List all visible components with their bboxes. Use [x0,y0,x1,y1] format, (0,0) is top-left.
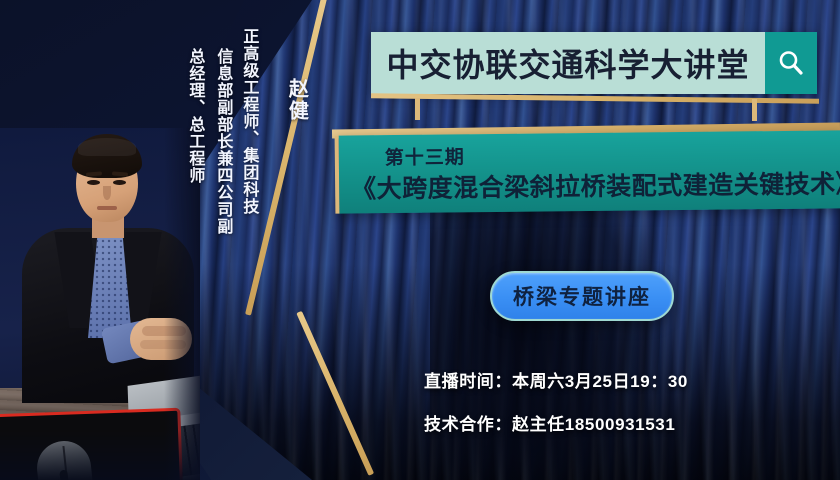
brand-title-text: 中交协联交通科学大讲堂 [386,40,749,86]
topic-badge-label: 桥梁专题讲座 [513,281,651,311]
search-icon [776,48,806,78]
gold-tick-right [752,99,757,121]
live-time-text: 直播时间：本周六3月25日19：30 [424,367,688,392]
brand-title-bar: 中交协联交通科学大讲堂 [371,32,817,94]
background-shadow [430,200,660,480]
speaker-photo [0,128,200,480]
episode-label: 第十三期 [385,142,465,170]
topic-badge[interactable]: 桥梁专题讲座 [490,271,674,321]
speaker-name: 赵健 [286,78,306,122]
brand-title-box: 中交协联交通科学大讲堂 [371,32,765,94]
contact-text: 技术合作：赵主任18500931531 [424,410,675,435]
webinar-poster: 总经理、总工程师 信息部副部长兼四公司副 正高级工程师、集团科技 赵健 中交协联… [0,0,840,480]
speaker-credential-line-3: 总经理、总工程师 [186,48,202,184]
lecture-title: 《大跨度混合梁斜拉桥装配式建造关键技术》 [351,164,840,205]
photo-right-fade [0,128,200,480]
speaker-credential-line-1: 正高级工程师、集团科技 [240,28,256,215]
speaker-credential-line-2: 信息部副部长兼四公司副 [214,48,230,235]
gold-tick-left [415,98,420,120]
search-button[interactable] [765,32,817,94]
gold-chevron-divider [270,0,350,480]
subtitle-band: 第十三期 《大跨度混合梁斜拉桥装配式建造关键技术》 [335,130,840,213]
